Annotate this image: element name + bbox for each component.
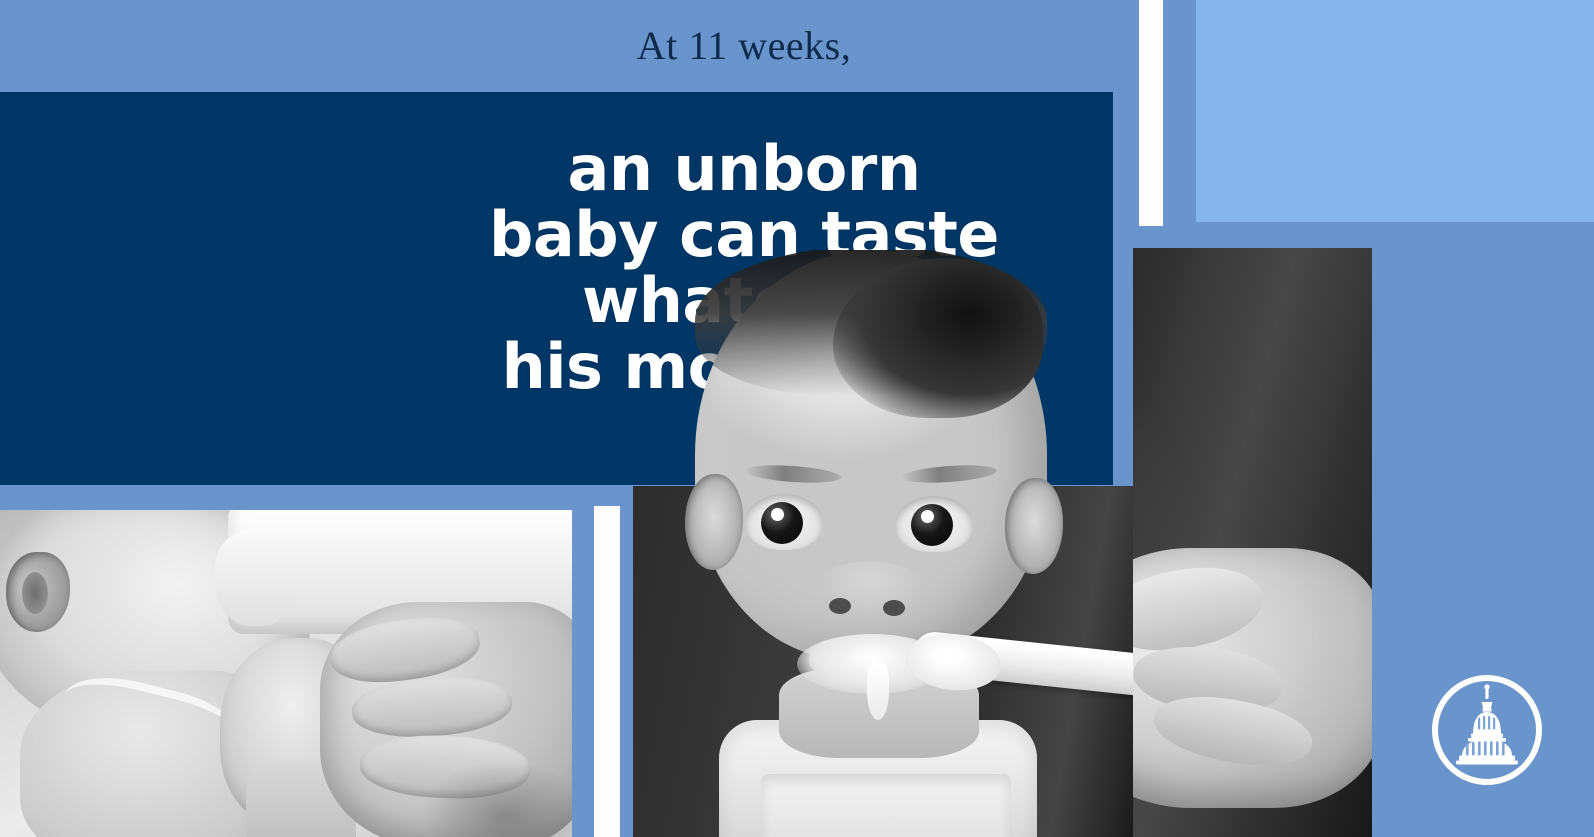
baby-cutout-overlay — [633, 250, 1133, 837]
baby-nostril-right — [883, 600, 905, 616]
baby-eye-right — [895, 496, 973, 552]
bottle-nipple — [215, 530, 299, 626]
baby-eye-left — [745, 494, 823, 550]
bib-pocket — [761, 774, 1011, 837]
caption-top: At 11 weeks, — [0, 22, 1488, 70]
capitol-dome-logo — [1429, 672, 1545, 788]
baby-nostril-left — [829, 598, 851, 614]
food-drip — [867, 662, 889, 720]
fact-card-graphic: At 11 weeks, an unborn baby can taste wh… — [0, 0, 1594, 837]
white-vertical-stripe-bottom — [594, 506, 620, 837]
headline-line-1: an unborn — [0, 136, 1488, 202]
bottle-feeding-photo — [0, 510, 572, 837]
